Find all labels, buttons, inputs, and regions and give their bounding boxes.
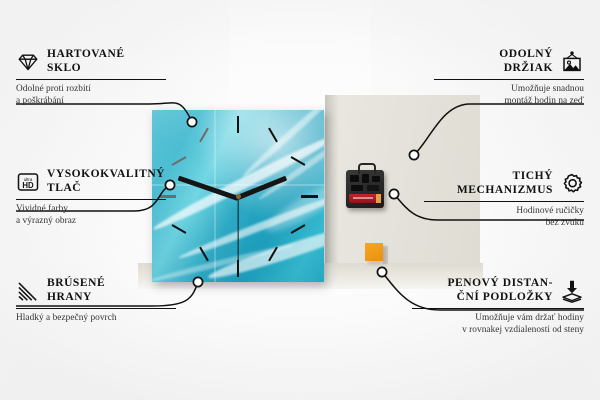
feature-subtitle: Hodinové ručičky bez zvuku — [424, 206, 584, 229]
feature-polished-edges: BRÚSENÉ HRANY Hladký a bezpečný povrch — [16, 277, 176, 325]
feature-divider — [424, 201, 584, 202]
diamond-icon — [16, 50, 40, 74]
picture-frame-hanger-icon — [560, 50, 584, 74]
svg-text:HD: HD — [22, 181, 34, 190]
press-down-layers-icon — [560, 279, 584, 303]
feature-header: PENOVÝ DISTAN- ČNÍ PODLOŽKY — [412, 277, 584, 304]
connector-endpoint-foam — [377, 267, 386, 276]
feature-subtitle: Hladký a bezpečný povrch — [16, 313, 176, 325]
feature-subtitle: Umožňuje snadnou montáž hodin na zeď — [434, 84, 584, 107]
feature-header: BRÚSENÉ HRANY — [16, 277, 176, 304]
brushed-edges-icon — [16, 279, 40, 303]
feature-silent-mechanism: TICHÝ MECHANIZMUS Hodinové ručičky bez z… — [424, 170, 584, 230]
feature-divider — [412, 308, 584, 309]
feature-subtitle: Odolné proti rozbití a poškrábání — [16, 84, 166, 107]
feature-title: HARTOVANÉ SKLO — [47, 48, 125, 75]
feature-header: HARTOVANÉ SKLO — [16, 48, 166, 75]
feature-header: TICHÝ MECHANIZMUS — [424, 170, 584, 197]
feature-divider — [16, 79, 166, 80]
feature-subtitle: Vividné farby a výrazný obraz — [16, 204, 166, 227]
connector-holder — [414, 104, 584, 155]
connector-endpoint-glass — [187, 117, 196, 126]
feature-tempered-glass: HARTOVANÉ SKLO Odolné proti rozbití a po… — [16, 48, 166, 108]
connector-endpoint-holder — [409, 150, 418, 159]
feature-header: ultra HD VYSOKOKVALITNÝ TLAČ — [16, 168, 166, 195]
gear-icon — [560, 172, 584, 196]
feature-divider — [16, 199, 166, 200]
feature-foam-spacers: PENOVÝ DISTAN- ČNÍ PODLOŽKY Umožňuje vám… — [412, 277, 584, 337]
feature-title: BRÚSENÉ HRANY — [47, 277, 105, 304]
feature-title: TICHÝ MECHANIZMUS — [457, 170, 553, 197]
feature-title: ODOLNÝ DRŽIAK — [499, 48, 553, 75]
feature-divider — [434, 79, 584, 80]
feature-header: ODOLNÝ DRŽIAK — [434, 48, 584, 75]
connector-endpoint-mechanism — [389, 189, 398, 198]
feature-subtitle: Umožňuje vám držať hodiny v rovnakej vzd… — [412, 313, 584, 336]
ultra-hd-icon: ultra HD — [16, 170, 40, 194]
connector-endpoint-edges — [193, 277, 202, 286]
feature-title: VYSOKOKVALITNÝ TLAČ — [47, 168, 165, 195]
feature-high-quality-print: ultra HD VYSOKOKVALITNÝ TLAČ Vividné far… — [16, 168, 166, 228]
feature-title: PENOVÝ DISTAN- ČNÍ PODLOŽKY — [447, 277, 553, 304]
feature-divider — [16, 308, 176, 309]
connector-endpoint-print — [165, 180, 174, 189]
feature-durable-holder: ODOLNÝ DRŽIAK Umožňuje snadnou montáž ho… — [434, 48, 584, 108]
infographic-canvas: HARTOVANÉ SKLO Odolné proti rozbití a po… — [0, 0, 600, 400]
